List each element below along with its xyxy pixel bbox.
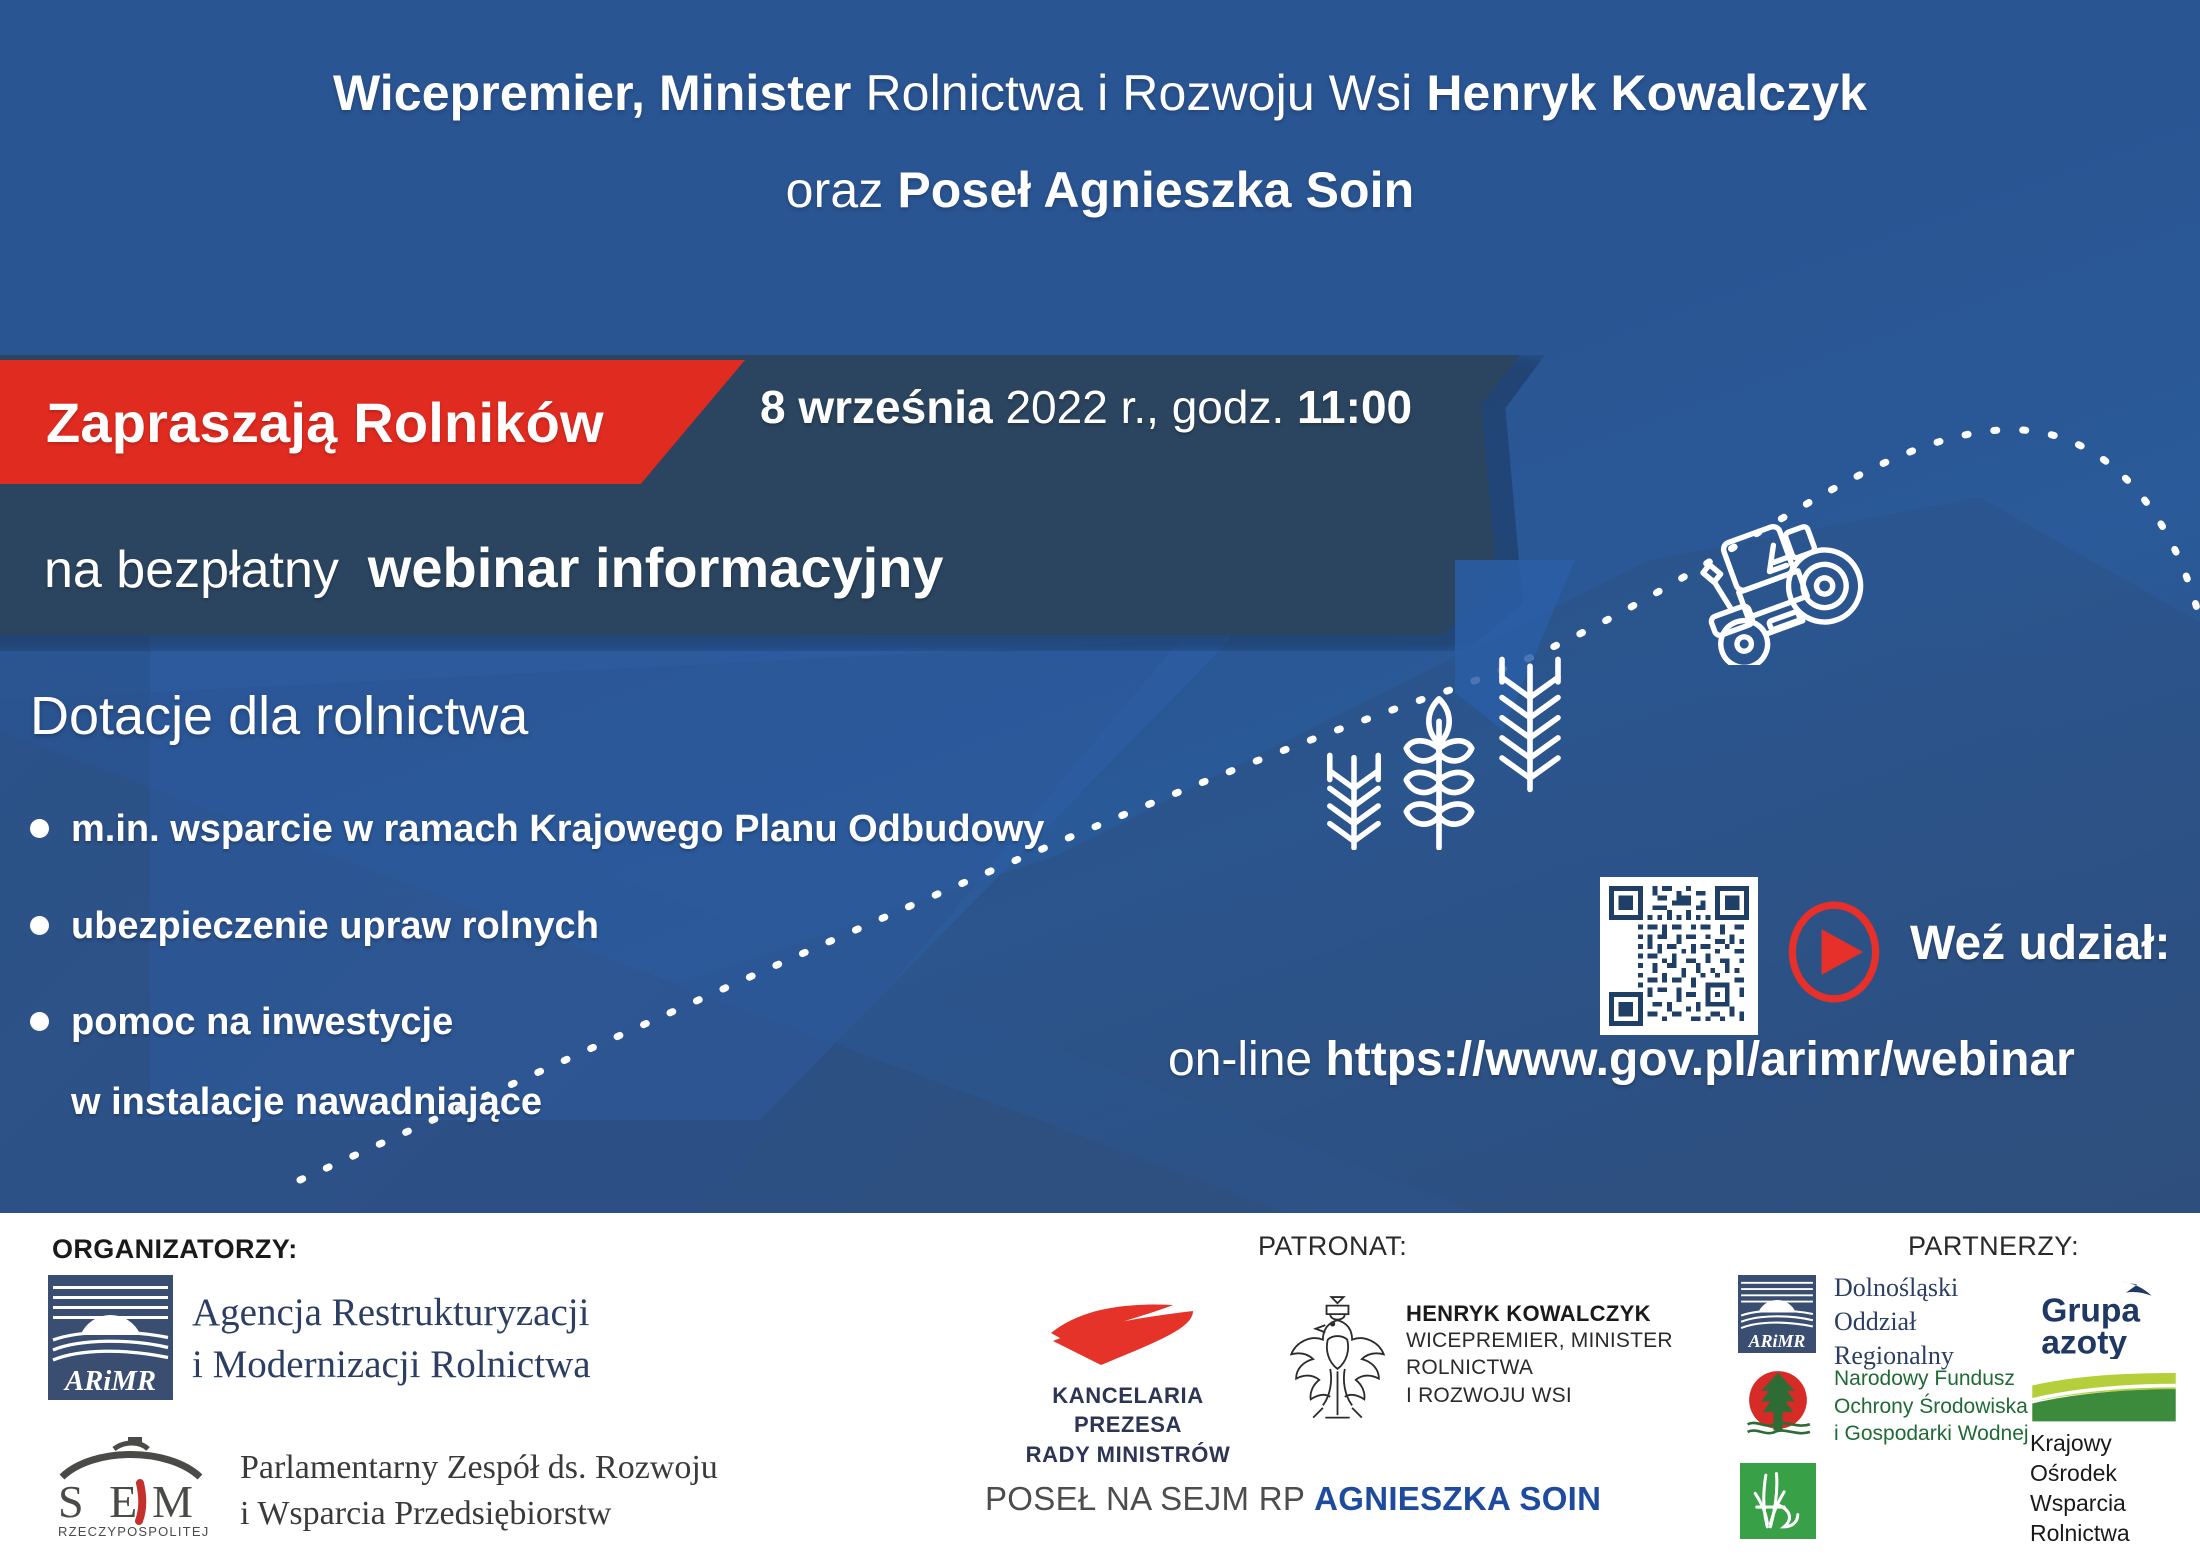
- event-datetime: 8 września 2022 r., godz. 11:00: [760, 380, 1412, 434]
- partner-kowr-line1: Krajowy Ośrodek: [2030, 1429, 2200, 1489]
- kprm-line1: KANCELARIA PREZESA: [1018, 1381, 1238, 1440]
- polish-eagle-icon: [1275, 1291, 1400, 1431]
- list-item-continuation: w instalacje nawadniające: [71, 1081, 1360, 1124]
- event-year: 2022 r., godz.: [993, 381, 1297, 433]
- webinar-poster: Wicepremier, Minister Rolnictwa i Rozwoj…: [0, 0, 2200, 1555]
- headline-conjunction: oraz: [786, 162, 898, 218]
- list-item-label: ubezpieczenie upraw rolnych: [71, 902, 599, 951]
- list-item: ubezpieczenie upraw rolnych: [30, 902, 1360, 951]
- nfosigw-logo: [1740, 1365, 1816, 1441]
- organizer-sejm-name: Parlamentarny Zespół ds. Rozwoju i Wspar…: [240, 1445, 718, 1537]
- posel-name: AGNIESZKA SOIN: [1314, 1480, 1601, 1517]
- headline-line-2: oraz Poseł Agnieszka Soin: [0, 155, 2200, 226]
- minister-role-line1: WICEPREMIER, MINISTER: [1406, 1327, 1673, 1354]
- svg-text:S E: S E: [58, 1476, 144, 1527]
- headline-bold-role: Wicepremier, Minister: [333, 65, 852, 121]
- kprm-label: KANCELARIA PREZESA RADY MINISTRÓW: [1018, 1381, 1238, 1469]
- tractor-icon: [1688, 515, 1868, 665]
- join-cta-label: Weź udział:: [1910, 916, 2170, 971]
- wheat-icon: [1490, 655, 1570, 795]
- webinar-free-label: na bezpłatny: [44, 541, 339, 599]
- polish-flag-icon: [1043, 1299, 1213, 1369]
- play-circle-icon[interactable]: [1782, 900, 1886, 1004]
- headline-bold-mp: Poseł Agnieszka Soin: [897, 162, 1414, 218]
- svg-text:ARiMR: ARiMR: [1748, 1331, 1806, 1351]
- partner-kowr-name: Krajowy Ośrodek Wsparcia Rolnictwa: [2030, 1429, 2200, 1549]
- minister-patron: HENRYK KOWALCZYK WICEPREMIER, MINISTER R…: [1406, 1301, 1673, 1409]
- minister-name: HENRYK KOWALCZYK: [1406, 1301, 1673, 1327]
- footer: ORGANIZATORZY: PATRONAT: PARTNERZY: ARiM…: [0, 1213, 2200, 1555]
- partner-kowr-line2: Wsparcia Rolnictwa: [2030, 1489, 2200, 1549]
- partner-dolnoslaski-line1: Dolnośląski: [1834, 1271, 1958, 1305]
- grants-title: Dotacje dla rolnictwa: [30, 685, 528, 747]
- minister-role-line2: ROLNICTWA: [1406, 1354, 1673, 1381]
- wheat-icon: [1400, 692, 1478, 850]
- headline-line-1: Wicepremier, Minister Rolnictwa i Rozwoj…: [0, 58, 2200, 129]
- online-label: on-line: [1168, 1033, 1325, 1086]
- list-item: pomoc na inwestycje: [30, 998, 1360, 1047]
- posel-prefix: POSEŁ NA SEJM RP: [985, 1480, 1314, 1517]
- organizer-arimr-name: Agencja Restrukturyzacji i Modernizacji …: [192, 1287, 591, 1391]
- kdc-green-logo: [1740, 1463, 1816, 1539]
- invite-tag: Zapraszają Rolników: [0, 360, 745, 484]
- webinar-url[interactable]: https://www.gov.pl/arimr/webinar: [1325, 1033, 2074, 1086]
- partner-nfosigw-line1: Narodowy Fundusz: [1834, 1365, 2029, 1393]
- patronat-heading: PATRONAT:: [1258, 1231, 1407, 1262]
- sejm-subtitle: RZECZYPOSPOLITEJ POLSKIEJ: [58, 1524, 213, 1539]
- bullet-dot-icon: [30, 1012, 49, 1031]
- qr-code-icon[interactable]: [1600, 877, 1758, 1035]
- sejm-logo: S E M RZECZYPOSPOLITEJ POLSKIEJ: [48, 1435, 213, 1543]
- kowr-logo: [2030, 1373, 2178, 1425]
- azoty-wordmark-2: azoty: [2041, 1324, 2127, 1359]
- organizer-arimr-line2: i Modernizacji Rolnictwa: [192, 1339, 591, 1391]
- online-link[interactable]: on-line https://www.gov.pl/arimr/webinar: [1168, 1032, 2075, 1087]
- headline-bold-name: Henryk Kowalczyk: [1426, 65, 1867, 121]
- headline-plain-ministry: Rolnictwa i Rozwoju Wsi: [851, 65, 1426, 121]
- svg-text:M: M: [152, 1476, 193, 1527]
- partner-nfosigw-name: Narodowy Fundusz Ochrony Środowiska i Go…: [1834, 1365, 2029, 1448]
- arimr-regional-logo: ARiMR: [1738, 1275, 1816, 1353]
- webinar-subtitle: na bezpłatny webinar informacyjny: [44, 535, 944, 600]
- bullet-dot-icon: [30, 819, 49, 838]
- posel-line: POSEŁ NA SEJM RP AGNIESZKA SOIN: [985, 1480, 1601, 1518]
- organizer-arimr-line1: Agencja Restrukturyzacji: [192, 1287, 591, 1339]
- minister-role-line3: I ROZWOJU WSI: [1406, 1382, 1673, 1409]
- organizer-sejm-line1: Parlamentarny Zespół ds. Rozwoju: [240, 1445, 718, 1491]
- grupa-azoty-logo: Grupa azoty: [2038, 1275, 2174, 1359]
- partner-nfosigw-line2: Ochrony Środowiska: [1834, 1393, 2029, 1421]
- organizers-heading: ORGANIZATORZY:: [52, 1234, 298, 1265]
- kprm-line2: RADY MINISTRÓW: [1018, 1440, 1238, 1469]
- page-title: Wicepremier, Minister Rolnictwa i Rozwoj…: [0, 58, 2200, 226]
- organizer-sejm-line2: i Wsparcia Przedsiębiorstw: [240, 1491, 718, 1537]
- grants-list: m.in. wsparcie w ramach Krajowego Planu …: [30, 805, 1360, 1124]
- partner-dolnoslaski-line2: Oddział: [1834, 1305, 1958, 1339]
- invite-tag-label: Zapraszają Rolników: [0, 390, 604, 455]
- list-item-label: pomoc na inwestycje: [71, 998, 453, 1047]
- webinar-type-label: webinar informacyjny: [368, 536, 944, 599]
- partnerzy-heading: PARTNERZY:: [1908, 1231, 2079, 1262]
- svg-text:ARiMR: ARiMR: [63, 1365, 156, 1397]
- list-item-label: m.in. wsparcie w ramach Krajowego Planu …: [71, 805, 1044, 854]
- list-item: m.in. wsparcie w ramach Krajowego Planu …: [30, 805, 1360, 854]
- bullet-dot-icon: [30, 916, 49, 935]
- wheat-icon: [1318, 740, 1390, 850]
- event-date: 8 września: [760, 381, 993, 433]
- arimr-logo: ARiMR: [48, 1275, 173, 1400]
- event-time: 11:00: [1297, 381, 1412, 433]
- partner-nfosigw-line3: i Gospodarki Wodnej: [1834, 1420, 2029, 1448]
- partner-dolnoslaski-name: Dolnośląski Oddział Regionalny: [1834, 1271, 1958, 1372]
- kprm-logo: KANCELARIA PREZESA RADY MINISTRÓW: [1018, 1299, 1238, 1469]
